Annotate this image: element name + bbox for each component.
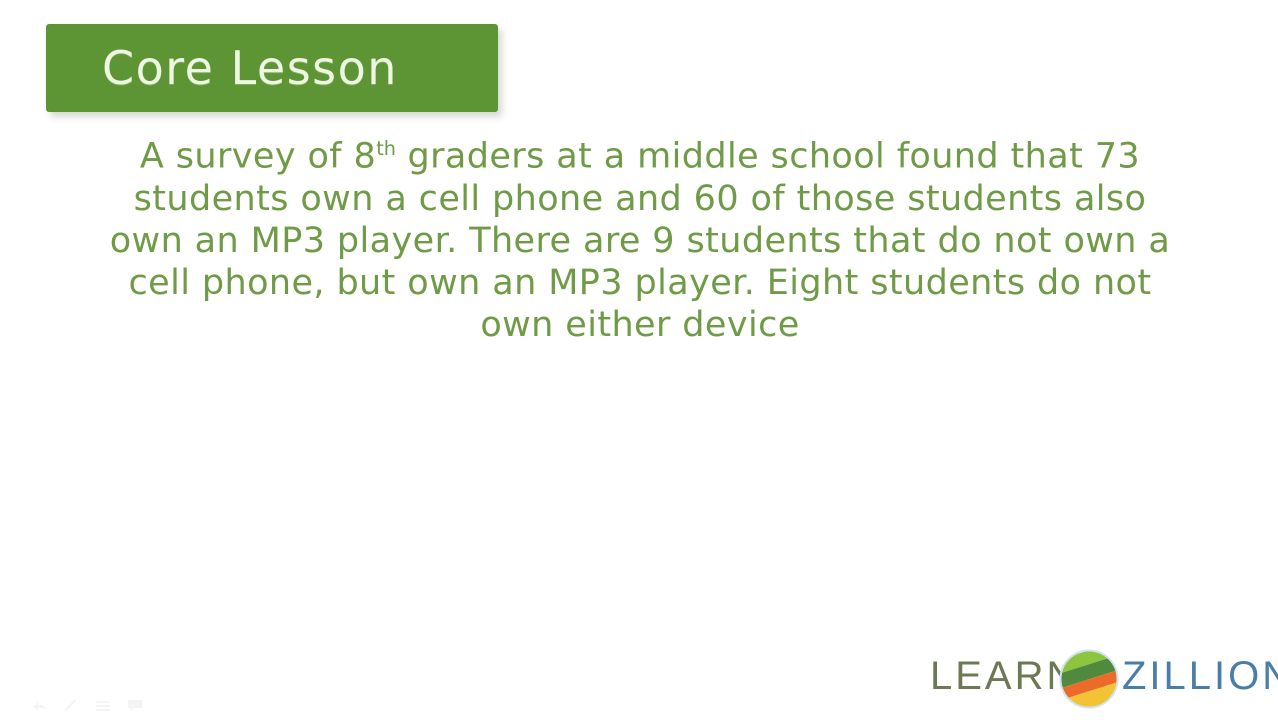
- speech-bubble-icon[interactable]: [126, 698, 144, 714]
- globe-icon: [1058, 648, 1120, 710]
- body-line: own an MP3 player. There are 9 students …: [60, 220, 1220, 262]
- slide-canvas: Core Lesson A survey of 8th graders at a…: [0, 0, 1278, 720]
- logo-word-zillion: ZILLION: [1122, 654, 1278, 698]
- logo-word-learn: LEARN: [930, 654, 1078, 698]
- body-line: students own a cell phone and 60 of thos…: [60, 178, 1220, 220]
- undo-arrow-icon[interactable]: [30, 698, 48, 714]
- body-line-text-cont: graders at a middle school found that 73: [396, 137, 1140, 177]
- learnzillion-logo: LEARN: [930, 648, 1260, 708]
- title-banner: Core Lesson: [46, 24, 498, 112]
- body-line: A survey of 8th graders at a middle scho…: [60, 128, 1220, 178]
- player-toolbar[interactable]: [30, 696, 140, 716]
- list-lines-icon[interactable]: [94, 698, 112, 714]
- page-title: Core Lesson: [102, 45, 398, 91]
- lesson-problem-text: A survey of 8th graders at a middle scho…: [60, 128, 1220, 346]
- ordinal-suffix: th: [376, 137, 396, 160]
- body-line: own either device: [60, 304, 1220, 346]
- pencil-icon[interactable]: [62, 698, 80, 714]
- body-line-text: A survey of 8: [140, 137, 376, 177]
- body-line: cell phone, but own an MP3 player. Eight…: [60, 262, 1220, 304]
